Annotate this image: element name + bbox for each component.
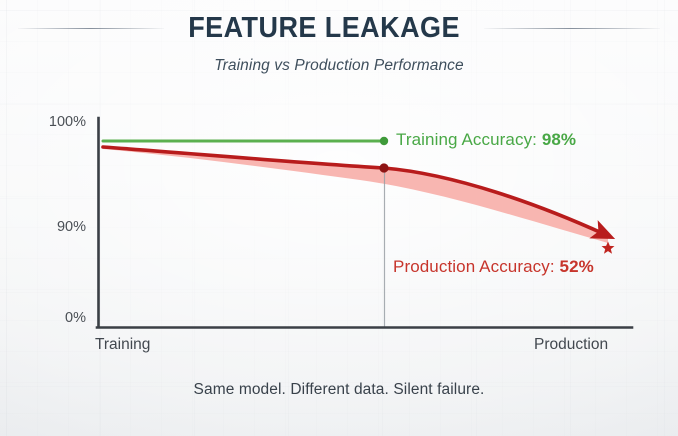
degradation-gap-band (103, 147, 608, 243)
training-accuracy-annotation-text: Training Accuracy: (396, 130, 542, 149)
training-accuracy-endpoint-dot (380, 137, 388, 145)
production-accuracy-annotation: Production Accuracy: 52% (393, 257, 594, 277)
page-subtitle: Training vs Production Performance (0, 57, 678, 75)
header: FEATURE LEAKAGE Training vs Production P… (0, 14, 678, 75)
y-tick-label-90: 90% (14, 219, 86, 235)
footnote-caption: Same model. Different data. Silent failu… (0, 381, 678, 399)
y-tick-label-100: 100% (14, 114, 86, 130)
production-midpoint-dot (379, 163, 388, 172)
title-row: FEATURE LEAKAGE (0, 14, 678, 43)
production-accuracy-annotation-text: Production Accuracy: (393, 257, 560, 276)
training-accuracy-annotation: Training Accuracy: 98% (396, 130, 576, 150)
y-tick-label-0: 0% (14, 310, 86, 326)
production-endpoint-star-icon (602, 242, 615, 254)
production-accuracy-line (103, 147, 604, 234)
infographic-root: FEATURE LEAKAGE Training vs Production P… (0, 0, 678, 436)
training-accuracy-annotation-value: 98% (542, 130, 576, 149)
title-rule-right-icon (484, 28, 660, 29)
x-tick-label-production: Production (534, 336, 608, 354)
page-title: FEATURE LEAKAGE (188, 14, 460, 43)
production-accuracy-annotation-value: 52% (560, 257, 594, 276)
title-rule-left-icon (18, 28, 164, 29)
x-tick-label-training: Training (95, 336, 150, 354)
